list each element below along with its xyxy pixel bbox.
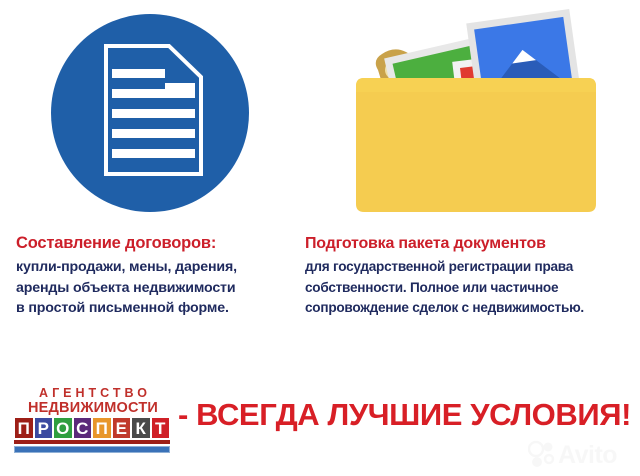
column-contracts-line-1: купли-продажи, мены, дарения, — [16, 257, 301, 278]
column-contracts-heading: Составление договоров: — [16, 233, 301, 254]
logo-letter-box-2: Р — [34, 417, 54, 439]
document-badge — [51, 14, 249, 212]
logo-line-realty: НЕДВИЖИМОСТИ — [14, 400, 172, 416]
logo-letter-box-3: О — [53, 417, 73, 439]
column-documents: Подготовка пакета документов для государ… — [305, 233, 635, 319]
logo-letter-box-4: С — [73, 417, 93, 439]
column-contracts: Составление договоров: купли-продажи, ме… — [16, 233, 301, 319]
avito-dots-icon — [528, 440, 556, 468]
illustration-band — [0, 0, 640, 232]
column-documents-body: для государственной регистрации права со… — [305, 257, 635, 319]
logo-red-bar — [14, 440, 170, 444]
column-documents-line-2: собственности. Полное или частичное — [305, 278, 635, 299]
logo-letter-boxes: П Р О С П Е К Т — [14, 417, 170, 439]
column-documents-heading: Подготовка пакета документов — [305, 233, 635, 254]
logo-letter-box-8: Т — [151, 417, 171, 439]
logo-letter-box-5: П — [92, 417, 112, 439]
footer-slogan: - ВСЕГДА ЛУЧШИЕ УСЛОВИЯ! — [178, 397, 631, 433]
folder-with-photos-icon — [352, 8, 604, 220]
company-logo: АГЕНТСТВО НЕДВИЖИМОСТИ П Р О С П Е К Т — [14, 386, 172, 453]
column-contracts-body: купли-продажи, мены, дарения, аренды объ… — [16, 257, 301, 319]
logo-letter-box-7: К — [131, 417, 151, 439]
logo-blue-bar — [14, 446, 170, 453]
feature-columns: Составление договоров: купли-продажи, ме… — [0, 233, 640, 348]
logo-letter-box-6: Е — [112, 417, 132, 439]
column-documents-line-1: для государственной регистрации права — [305, 257, 635, 278]
column-contracts-line-3: в простой письменной форме. — [16, 298, 301, 319]
logo-letter-box-1: П — [14, 417, 34, 439]
avito-wordmark: Avito — [558, 441, 617, 469]
column-documents-line-3: сопровождение сделок с недвижимостью. — [305, 298, 635, 319]
logo-line-agency: АГЕНТСТВО — [14, 386, 172, 400]
document-icon — [103, 43, 204, 177]
column-contracts-line-2: аренды объекта недвижимости — [16, 278, 301, 299]
avito-watermark: Avito — [528, 440, 632, 470]
